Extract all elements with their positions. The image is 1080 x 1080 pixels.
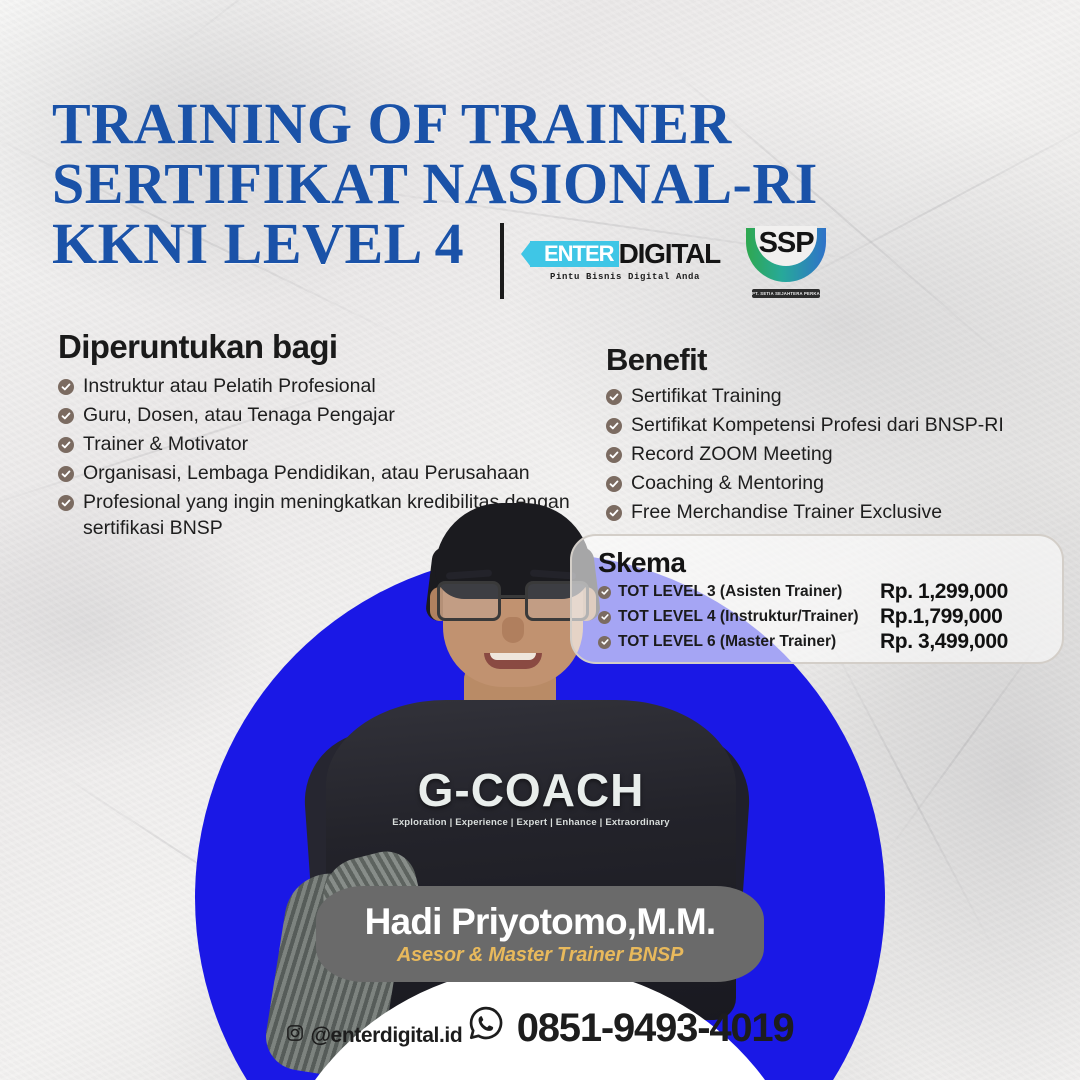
- list-item-label: Record ZOOM Meeting: [631, 442, 833, 468]
- enter-digital-enter-text: ENTER: [530, 241, 619, 267]
- instagram-icon: [286, 1024, 304, 1048]
- skema-price: Rp. 3,499,000: [880, 630, 1008, 654]
- list-item-label: Instruktur atau Pelatih Profesional: [83, 374, 376, 400]
- whatsapp-icon: [467, 1004, 505, 1052]
- table-row: TOT LEVEL 6 (Master Trainer) Rp. 3,499,0…: [598, 630, 1044, 654]
- table-row: TOT LEVEL 3 (Asisten Trainer) Rp. 1,299,…: [598, 580, 1044, 604]
- enter-digital-digital-text: DIGITAL: [619, 241, 721, 267]
- audience-title: Diperuntukan bagi: [58, 328, 578, 366]
- list-item: Record ZOOM Meeting: [606, 442, 1076, 468]
- list-item: Organisasi, Lembaga Pendidikan, atau Per…: [58, 461, 578, 487]
- shirt-logo-text: G-COACH: [372, 763, 690, 817]
- list-item-label: Guru, Dosen, atau Tenaga Pengajar: [83, 403, 395, 429]
- check-circle-icon: [58, 408, 74, 424]
- whatsapp-row[interactable]: 0851-9493-4019: [467, 1004, 794, 1052]
- photo-nose: [502, 617, 524, 643]
- skema-price: Rp. 1,299,000: [880, 580, 1008, 604]
- enter-digital-logo: ENTER DIGITAL Pintu Bisnis Digital Anda: [530, 241, 720, 282]
- list-item: Sertifikat Training: [606, 384, 1076, 410]
- check-circle-icon: [598, 636, 611, 649]
- speaker-role: Asesor & Master Trainer BNSP: [397, 943, 683, 967]
- check-circle-icon: [606, 476, 622, 492]
- list-item-label: Sertifikat Kompetensi Profesi dari BNSP-…: [631, 413, 1004, 439]
- list-item: Sertifikat Kompetensi Profesi dari BNSP-…: [606, 413, 1076, 439]
- enter-digital-tagline: Pintu Bisnis Digital Anda: [550, 272, 700, 282]
- instagram-handle-row[interactable]: @enterdigital.id: [286, 1024, 462, 1048]
- poster-canvas: TRAINING OF TRAINER SERTIFIKAT NASIONAL-…: [0, 0, 1080, 1080]
- list-item: Instruktur atau Pelatih Profesional: [58, 374, 578, 400]
- check-circle-icon: [58, 437, 74, 453]
- skema-level-label: TOT LEVEL 6 (Master Trainer): [618, 633, 880, 651]
- skema-price: Rp.1,799,000: [880, 605, 1002, 629]
- check-circle-icon: [606, 447, 622, 463]
- speaker-name: Hadi Priyotomo,M.M.: [365, 902, 716, 942]
- whatsapp-number: 0851-9493-4019: [517, 1006, 794, 1051]
- list-item-label: Sertifikat Training: [631, 384, 782, 410]
- table-row: TOT LEVEL 4 (Instruktur/Trainer) Rp.1,79…: [598, 605, 1044, 629]
- check-circle-icon: [58, 495, 74, 511]
- skema-level-label: TOT LEVEL 3 (Asisten Trainer): [618, 583, 880, 601]
- check-circle-icon: [58, 466, 74, 482]
- skema-rows: TOT LEVEL 3 (Asisten Trainer) Rp. 1,299,…: [598, 580, 1044, 654]
- headline-line-2: SERTIFIKAT NASIONAL-RI: [52, 154, 818, 214]
- skema-card: Skema TOT LEVEL 3 (Asisten Trainer) Rp. …: [570, 534, 1064, 664]
- check-circle-icon: [606, 389, 622, 405]
- check-circle-icon: [58, 379, 74, 395]
- list-item: Coaching & Mentoring: [606, 471, 1076, 497]
- headline-line-1: TRAINING OF TRAINER: [52, 94, 818, 154]
- shirt-tagline-text: Exploration | Experience | Expert | Enha…: [372, 817, 690, 828]
- logo-strip: ENTER DIGITAL Pintu Bisnis Digital Anda …: [500, 218, 826, 304]
- check-circle-icon: [598, 611, 611, 624]
- ssp-company-banner: PT. SETIA SEJAHTERA PERKASA: [752, 289, 820, 298]
- list-item: Trainer & Motivator: [58, 432, 578, 458]
- benefit-title: Benefit: [606, 342, 1076, 378]
- list-item-label: Organisasi, Lembaga Pendidikan, atau Per…: [83, 461, 530, 487]
- check-circle-icon: [598, 586, 611, 599]
- list-item: Guru, Dosen, atau Tenaga Pengajar: [58, 403, 578, 429]
- glasses-icon: [437, 581, 589, 621]
- logo-divider: [500, 223, 504, 299]
- ssp-logo: SSP PT. SETIA SEJAHTERA PERKASA: [746, 224, 826, 298]
- list-item-label: Trainer & Motivator: [83, 432, 248, 458]
- check-circle-icon: [606, 418, 622, 434]
- skema-title: Skema: [598, 548, 1044, 578]
- contact-block: @enterdigital.id 0851-9493-4019: [0, 1000, 1080, 1052]
- list-item-label: Coaching & Mentoring: [631, 471, 824, 497]
- instagram-handle: @enterdigital.id: [310, 1024, 462, 1048]
- speaker-name-banner: Hadi Priyotomo,M.M. Asesor & Master Trai…: [316, 886, 764, 982]
- skema-level-label: TOT LEVEL 4 (Instruktur/Trainer): [618, 608, 880, 626]
- photo-teeth: [490, 653, 536, 660]
- ssp-logo-text: SSP: [746, 228, 826, 258]
